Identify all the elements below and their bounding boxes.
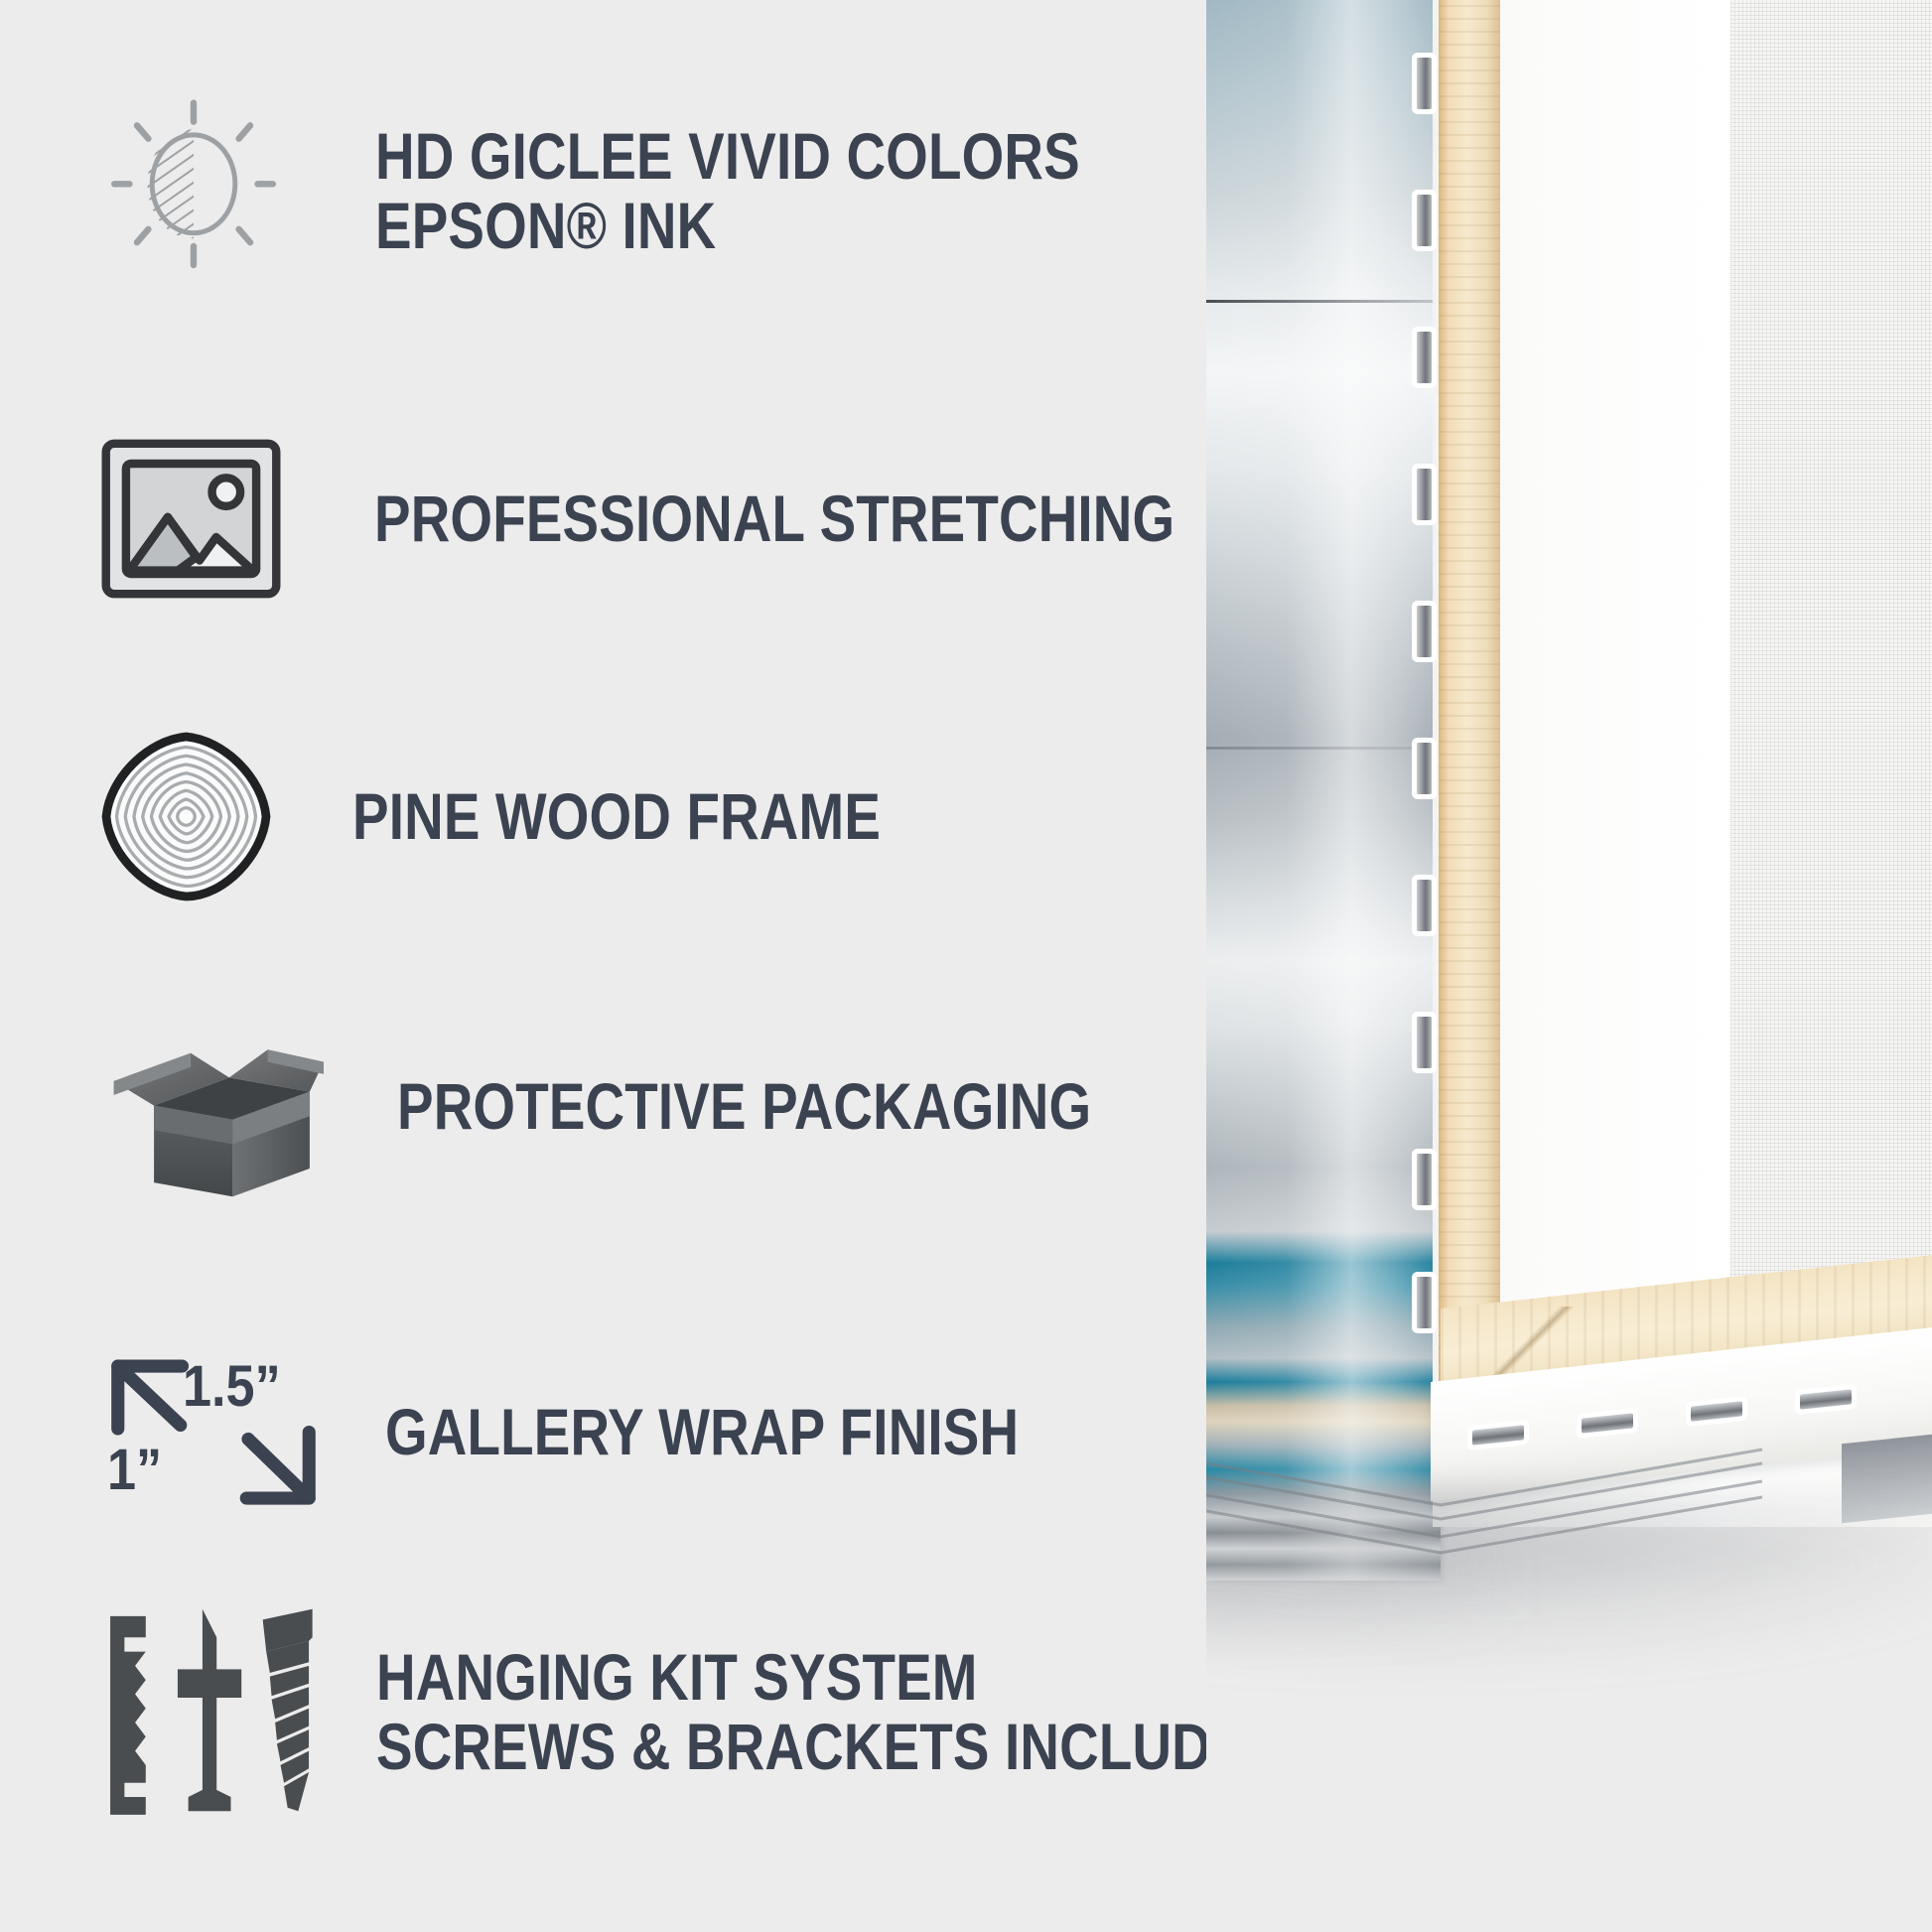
measurement-bottom: 1” (107, 1437, 162, 1503)
staple (1417, 1154, 1432, 1205)
feature-pine-wood-frame: PINE WOOD FRAME (99, 730, 989, 903)
feature-label: HD GICLEE VIVID COLORS EPSON® INK (375, 122, 1080, 261)
infographic-canvas: HD GICLEE VIVID COLORS EPSON® INK PROFES… (0, 0, 1932, 1932)
feature-gallery-wrap-finish: 1.5” 1” GALLERY WRAP FINISH (99, 1345, 1149, 1519)
open-box-icon (99, 1015, 328, 1198)
picture-frame-icon (99, 437, 283, 601)
feature-label: HANGING KIT SYSTEM SCREWS & BRACKETS INC… (376, 1643, 1287, 1782)
feature-protective-packaging: PROTECTIVE PACKAGING (99, 1015, 1234, 1198)
feature-hd-giclee: HD GICLEE VIVID COLORS EPSON® INK (99, 95, 1224, 284)
staple (1417, 880, 1432, 931)
feature-label-line: GALLERY WRAP FINISH (385, 1398, 1019, 1467)
feature-label: PINE WOOD FRAME (352, 782, 881, 852)
feature-label-line: HANGING KIT SYSTEM (376, 1643, 1287, 1713)
staple (1417, 1017, 1432, 1068)
staple (1417, 1277, 1432, 1328)
canvas-corner-photo (1206, 0, 1932, 1932)
feature-label-line: PINE WOOD FRAME (352, 782, 881, 852)
edge-fold-line (1206, 300, 1441, 303)
feature-professional-stretching: PROFESSIONAL STRETCHING (99, 437, 1338, 601)
feature-label-line: SCREWS & BRACKETS INCLUDED (376, 1713, 1287, 1782)
feature-label: PROFESSIONAL STRETCHING (374, 484, 1174, 554)
measurement-top: 1.5” (183, 1353, 281, 1420)
edge-fold-line (1206, 747, 1441, 750)
pine-stretcher-bar-vertical (1439, 0, 1500, 1412)
feature-list: HD GICLEE VIVID COLORS EPSON® INK PROFES… (0, 0, 1221, 1932)
canvas-texture (1730, 0, 1932, 1430)
staple (1417, 195, 1432, 246)
feature-label: PROTECTIVE PACKAGING (397, 1072, 1091, 1142)
wood-rings-icon (99, 730, 273, 903)
feature-label-line: EPSON® INK (375, 192, 1080, 261)
bottom-shadow (1206, 1489, 1932, 1608)
wood-grain (1439, 0, 1500, 1412)
staple (1417, 469, 1432, 520)
depth-arrows-icon: 1.5” 1” (99, 1345, 328, 1519)
feature-label-line: PROTECTIVE PACKAGING (397, 1072, 1091, 1142)
edge-gloss (1206, 0, 1441, 1581)
staple (1417, 58, 1432, 109)
feature-label-line: HD GICLEE VIVID COLORS (375, 122, 1080, 192)
staple (1417, 332, 1432, 383)
feature-label: GALLERY WRAP FINISH (385, 1398, 1019, 1467)
feature-label-line: PROFESSIONAL STRETCHING (374, 484, 1174, 554)
staple (1417, 606, 1432, 657)
sun-icon (99, 95, 288, 284)
canvas-printed-edge (1206, 0, 1441, 1581)
hardware-icon (99, 1598, 313, 1822)
staple (1417, 743, 1432, 794)
